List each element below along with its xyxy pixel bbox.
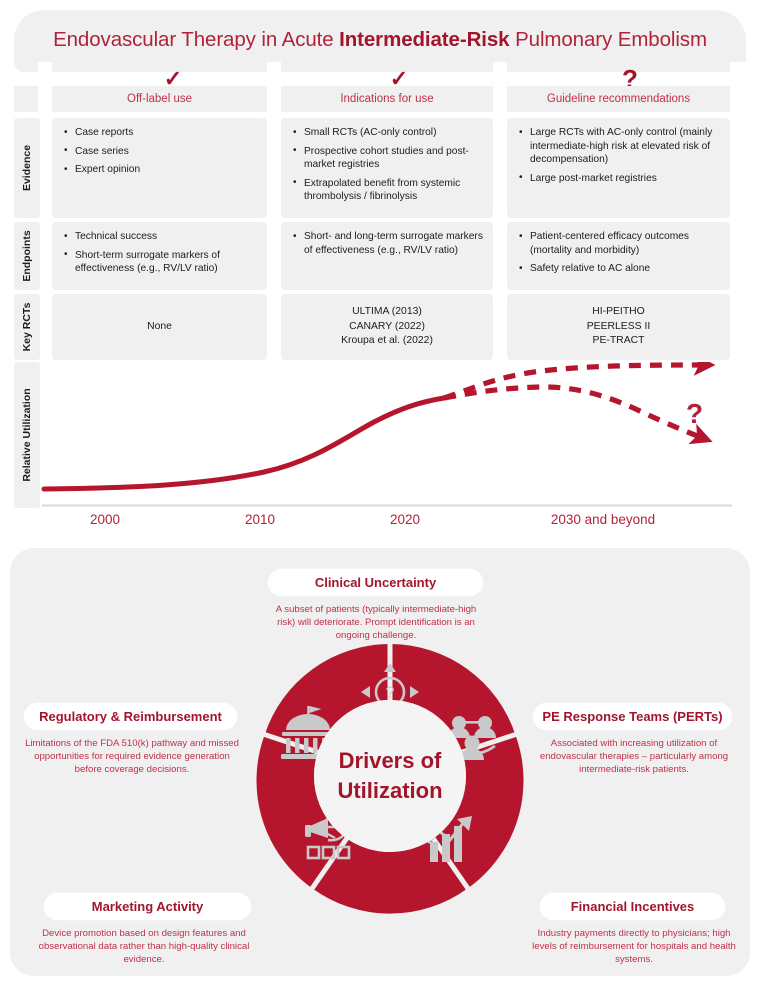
driver-description-pe-response-teams: Associated with increasing utilization o… xyxy=(528,737,740,776)
list-item: Patient-centered efficacy outcomes (mort… xyxy=(519,230,720,257)
driver-title-pe-response-teams[interactable]: PE Response Teams (PERTs) xyxy=(533,703,732,730)
header-gap-left xyxy=(38,62,52,114)
text-line: None xyxy=(147,320,172,335)
list-item: Extrapolated benefit from systemic throm… xyxy=(293,177,483,204)
driver-title-financial-incentives[interactable]: Financial Incentives xyxy=(540,893,725,920)
evidence-comparison-panel: Endovascular Therapy in Acute Intermedia… xyxy=(14,10,746,540)
row-label-endpoints: Endpoints xyxy=(14,222,40,290)
utilization-trend-chart: Relative Utilization ? 2000 xyxy=(14,362,746,540)
list-item: Small RCTs (AC-only control) xyxy=(293,126,483,140)
list-item: Short- and long-term surrogate markers o… xyxy=(293,230,483,257)
text-line: HI-PEITHO xyxy=(592,305,645,320)
chart-x-tick-labels: 2000 2010 2020 2030 and beyond xyxy=(14,510,746,538)
donut-center-line-1: Drivers of xyxy=(339,746,442,776)
driver-description-regulatory-reimbursement: Limitations of the FDA 510(k) pathway an… xyxy=(22,737,242,776)
column-header-guideline-recommendations: Guideline recommendations xyxy=(507,86,730,112)
cell-endpoints-off-label: Technical success Short-term surrogate m… xyxy=(52,222,267,290)
text-line: ULTIMA (2013) xyxy=(352,305,422,320)
svg-text:?: ? xyxy=(386,685,395,702)
text-line: Kroupa et al. (2022) xyxy=(341,334,433,349)
chart-series-projected-decline xyxy=(444,387,700,437)
cell-evidence-off-label: Case reports Case series Expert opinion xyxy=(52,118,267,218)
list-item: Prospective cohort studies and post-mark… xyxy=(293,145,483,172)
donut-center-line-2: Utilization xyxy=(337,776,442,806)
cell-key-rcts-off-label: None xyxy=(52,294,267,360)
drivers-of-utilization-panel: Clinical Uncertainty A subset of patient… xyxy=(10,548,750,976)
cell-endpoints-indications: Short- and long-term surrogate markers o… xyxy=(281,222,493,290)
title-emphasis: Intermediate-Risk xyxy=(339,28,509,51)
text-line: CANARY (2022) xyxy=(349,320,425,335)
header-gap-2 xyxy=(493,62,507,114)
driver-description-financial-incentives: Industry payments directly to physicians… xyxy=(528,927,740,966)
list-item: Case reports xyxy=(64,126,257,140)
infographic-page: Endovascular Therapy in Acute Intermedia… xyxy=(0,0,760,984)
cell-evidence-indications: Small RCTs (AC-only control) Prospective… xyxy=(281,118,493,218)
column-header-indications-for-use: Indications for use xyxy=(281,86,493,112)
cell-evidence-guideline: Large RCTs with AC-only control (mainly … xyxy=(507,118,730,218)
row-label-evidence: Evidence xyxy=(14,118,40,218)
row-label-evidence-text: Evidence xyxy=(21,145,33,191)
title-part-1: Endovascular Therapy in Acute xyxy=(53,28,339,51)
x-tick-2030-and-beyond: 2030 and beyond xyxy=(551,512,655,527)
text-line: PEERLESS II xyxy=(587,320,651,335)
header-gap-1 xyxy=(267,62,281,114)
x-tick-2020: 2020 xyxy=(390,512,420,527)
driver-title-clinical-uncertainty[interactable]: Clinical Uncertainty xyxy=(268,569,483,596)
chart-series-observed xyxy=(44,398,444,489)
title-part-2: Pulmonary Embolism xyxy=(509,28,706,51)
chart-series-projected-growth xyxy=(444,365,702,398)
text-line: PE-TRACT xyxy=(593,334,645,349)
drivers-donut-chart: ? xyxy=(248,634,532,918)
column-header-off-label-use: Off-label use xyxy=(52,86,267,112)
header-gap-right xyxy=(730,62,746,114)
cell-key-rcts-guideline: HI-PEITHO PEERLESS II PE-TRACT xyxy=(507,294,730,360)
row-label-key-rcts: Key RCTs xyxy=(14,294,40,360)
cell-endpoints-guideline: Patient-centered efficacy outcomes (mort… xyxy=(507,222,730,290)
list-item: Expert opinion xyxy=(64,163,257,177)
row-label-endpoints-text: Endpoints xyxy=(21,230,33,281)
list-item: Short-term surrogate markers of effectiv… xyxy=(64,249,257,276)
cell-key-rcts-indications: ULTIMA (2013) CANARY (2022) Kroupa et al… xyxy=(281,294,493,360)
list-item: Technical success xyxy=(64,230,257,244)
list-item: Safety relative to AC alone xyxy=(519,262,720,276)
driver-title-regulatory-reimbursement[interactable]: Regulatory & Reimbursement xyxy=(24,703,237,730)
list-item: Large RCTs with AC-only control (mainly … xyxy=(519,126,720,167)
donut-center-label: Drivers of Utilization xyxy=(314,700,466,852)
driver-description-marketing-activity: Device promotion based on design feature… xyxy=(34,927,254,966)
list-item: Case series xyxy=(64,145,257,159)
chart-svg xyxy=(14,362,746,512)
page-title: Endovascular Therapy in Acute Intermedia… xyxy=(14,28,746,52)
x-tick-2000: 2000 xyxy=(90,512,120,527)
x-tick-2010: 2010 xyxy=(245,512,275,527)
list-item: Large post-market registries xyxy=(519,172,720,186)
chart-uncertainty-annotation: ? xyxy=(686,398,703,430)
driver-title-marketing-activity[interactable]: Marketing Activity xyxy=(44,893,251,920)
row-label-key-rcts-text: Key RCTs xyxy=(21,303,33,352)
